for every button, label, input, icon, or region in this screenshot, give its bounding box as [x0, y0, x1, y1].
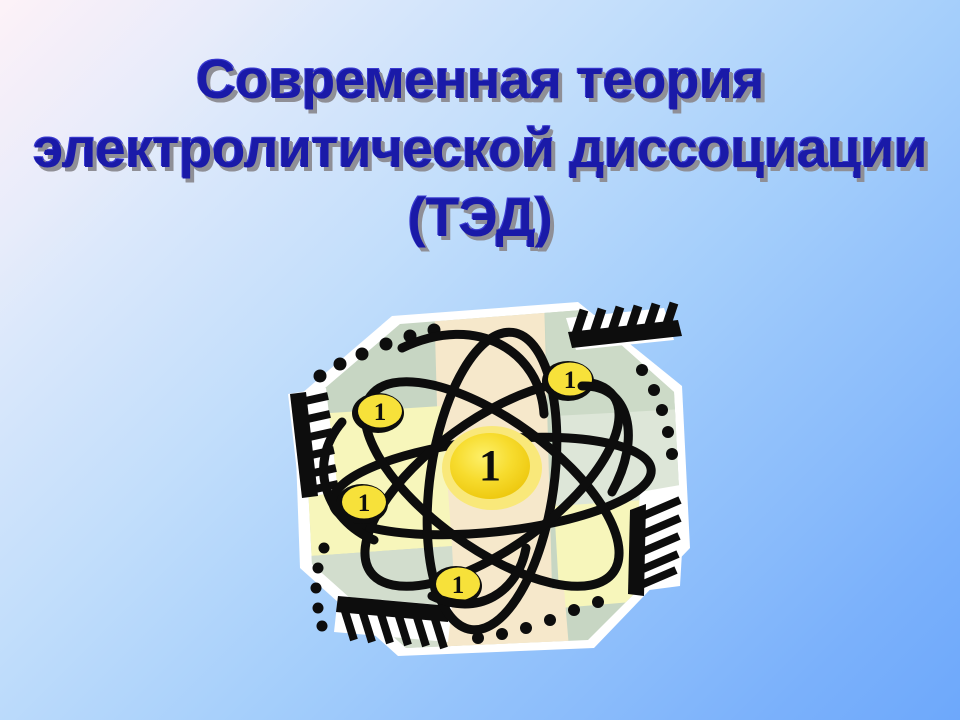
electron-upper-right: 1: [542, 361, 594, 401]
electron-label: 1: [374, 399, 387, 426]
electron-label: 1: [358, 490, 371, 517]
atom-illustration: 1 1 1 1: [282, 296, 702, 660]
electron-upper-left: 1: [352, 393, 404, 433]
nucleus-label: 1: [479, 441, 501, 490]
slide-canvas: Современная теория электролитической дис…: [0, 0, 960, 720]
electron-label: 1: [452, 572, 465, 599]
title-line-1: Современная теория: [0, 52, 960, 107]
nucleus: 1: [442, 426, 542, 510]
electron-label: 1: [564, 367, 577, 394]
title-line-3: (ТЭД): [0, 190, 960, 245]
hatch-top-right: [566, 303, 682, 350]
title-line-2: электролитической диссоциации: [0, 121, 960, 176]
page-title: Современная теория электролитической дис…: [0, 52, 960, 245]
